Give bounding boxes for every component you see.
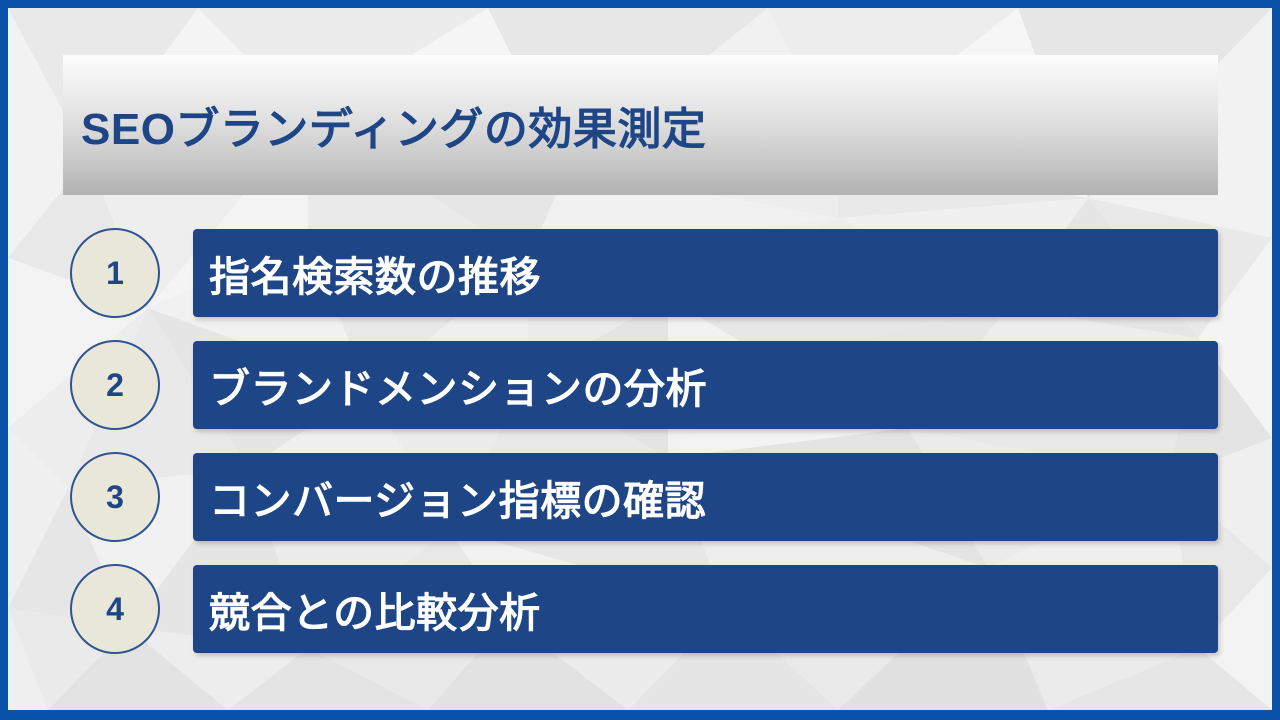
- numbered-list: 1 指名検索数の推移 2 ブランドメンションの分析 3 コンバージョン指標の確認…: [8, 228, 1272, 676]
- list-item-bar[interactable]: コンバージョン指標の確認: [193, 453, 1218, 541]
- list-item-label: 指名検索数の推移: [209, 243, 541, 303]
- title-banner: SEOブランディングの効果測定: [63, 55, 1218, 195]
- list-item-bar[interactable]: ブランドメンションの分析: [193, 341, 1218, 429]
- list-item-label: 競合との比較分析: [209, 579, 541, 639]
- slide-canvas: SEOブランディングの効果測定 1 指名検索数の推移 2 ブランドメンションの分…: [8, 8, 1272, 710]
- list-item-label: ブランドメンションの分析: [209, 355, 707, 415]
- list-item: 1 指名検索数の推移: [8, 228, 1272, 318]
- list-item: 2 ブランドメンションの分析: [8, 340, 1272, 430]
- list-item-number-badge: 4: [70, 564, 160, 654]
- slide-frame: SEOブランディングの効果測定 1 指名検索数の推移 2 ブランドメンションの分…: [0, 0, 1280, 720]
- list-item-number-badge: 2: [70, 340, 160, 430]
- list-item-number-badge: 3: [70, 452, 160, 542]
- page-title: SEOブランディングの効果測定: [81, 93, 706, 157]
- list-item-number-badge: 1: [70, 228, 160, 318]
- list-item-label: コンバージョン指標の確認: [209, 467, 706, 527]
- list-item: 4 競合との比較分析: [8, 564, 1272, 654]
- list-item: 3 コンバージョン指標の確認: [8, 452, 1272, 542]
- list-item-bar[interactable]: 競合との比較分析: [193, 565, 1218, 653]
- list-item-bar[interactable]: 指名検索数の推移: [193, 229, 1218, 317]
